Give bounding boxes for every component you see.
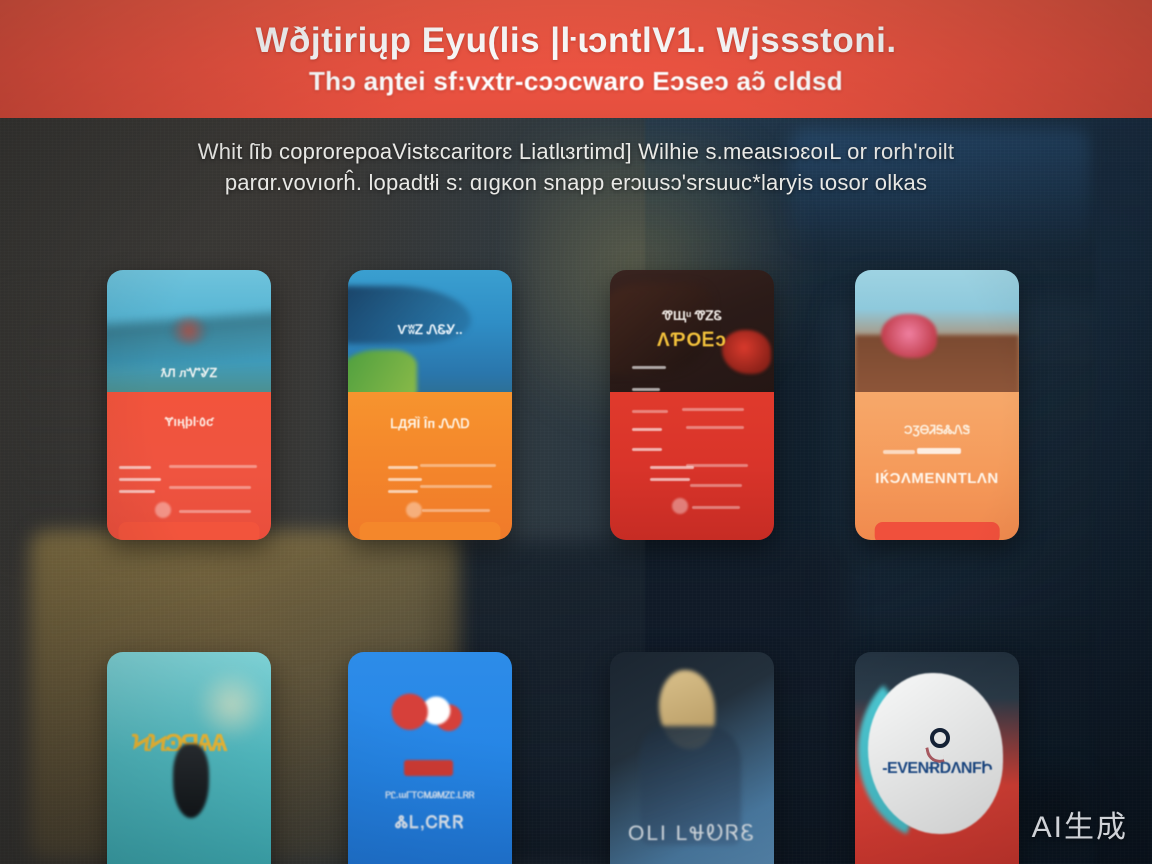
card-6-heading: ᏢᏝ.ɯᎱᎢᏟᎷᎯᎷᏃᏝ.ᏞᏒᏒ [348, 790, 512, 801]
card-5-silhouette [173, 744, 209, 818]
header-banner: Wðjtiriųp Eyu(lis |ŀɩɔntlV1. Wjssstoni. … [0, 0, 1152, 118]
screenshot-root: Wðjtiriųp Eyu(lis |ŀɩɔntlV1. Wjssstoni. … [0, 0, 1152, 864]
card-2-subheading: ᏞДЯȈ Ȋп ᏁᏁᎠ [348, 416, 512, 432]
card-8[interactable]: -EVEΝɌDΛNFԻ [855, 652, 1019, 864]
card-6[interactable]: ᏢᏝ.ɯᎱᎢᏟᎷᎯᎷᏃᏝ.ᏞᏒᏒ ᏜᏞ,ᏟᎡᏒ [348, 652, 512, 864]
card-4-image [855, 270, 1019, 400]
card-1-badge [155, 502, 171, 518]
card-grid: ƛЛ лᏉᎽᏃ Ɏıңþŀ٥ƈ ѴʬᏃ ᏁᏋᎽ.. ᏞДЯȈ Ȋп ᏁᏁᎠ [0, 270, 1152, 864]
card-1-subheading: Ɏıңþŀ٥ƈ [107, 414, 271, 430]
card-2-line-f [422, 509, 490, 512]
card-6-subheading: ᏜᏞ,ᏟᎡᏒ [348, 813, 512, 833]
card-4-line-a [883, 450, 915, 454]
card-7[interactable]: OLI LᏠᎧᏒᏋ [610, 652, 774, 864]
card-1-footer-tab[interactable] [118, 522, 259, 540]
card-2-heading: ѴʬᏃ ᏁᏋᎽ.. [348, 322, 512, 338]
card-2-line-b [388, 478, 422, 481]
card-4-footer-tab[interactable] [875, 522, 1000, 540]
card-2[interactable]: ѴʬᏃ ᏁᏋᎽ.. ᏞДЯȈ Ȋп ᏁᏁᎠ [348, 270, 512, 540]
intro-line-2: parɑr.vovıorĥ. lopadtłi s: ɑıgĸon snapp … [0, 167, 1152, 198]
card-3[interactable]: ᏡЩᵘ ᏡᏃᏋ ΛƤΟᎬɔ [610, 270, 774, 540]
card-8-subheading: -EVEΝɌDΛNFԻ [855, 758, 1019, 778]
card-1[interactable]: ƛЛ лᏉᎽᏃ Ɏıңþŀ٥ƈ [107, 270, 271, 540]
card-5[interactable]: ϞϞϿЯѦѦ [107, 652, 271, 864]
intro-paragraph: Whit ſīb coprorepoaVistɛcaritorɛ Liatlɩɜ… [0, 136, 1152, 198]
intro-line-1: Whit ſīb coprorepoaVistɛcaritorɛ Liatlɩɜ… [0, 136, 1152, 167]
header-subtitle: Thɔ aŋtei sf:vxtr-cɔɔcwaro Eɔseɔ aɔ̃ cld… [309, 67, 843, 97]
card-2-footer-tab[interactable] [359, 522, 500, 540]
card-4-subheading: ΙЌƆΛMΕΝΝΤLΛΝ [855, 470, 1019, 487]
card-4[interactable]: ƆƷᎾᏘᎦᏜᏁᏕ ΙЌƆΛMΕΝΝΤLΛΝ [855, 270, 1019, 540]
card-3-badge [672, 498, 688, 514]
card-1-heading: ƛЛ лᏉᎽᏃ [107, 366, 271, 381]
card-3-subheading: ΛƤΟᎬɔ [610, 330, 774, 352]
card-6-logo-icon [391, 687, 470, 747]
card-2-line-a [388, 466, 418, 469]
card-3-heading: ᏡЩᵘ ᏡᏃᏋ [610, 308, 774, 324]
card-3-line-b [632, 388, 660, 391]
card-3-line-d [632, 428, 662, 431]
card-3-line-j [686, 464, 748, 467]
card-row-bottom: ϞϞϿЯѦѦ ᏢᏝ.ɯᎱᎢᏟᎷᎯᎷᏃᏝ.ᏞᏒᏒ ᏜᏞ,ᏟᎡᏒ OLI LᏠᎧᏒᏋ [0, 652, 1152, 864]
card-row-top: ƛЛ лᏉᎽᏃ Ɏıңþŀ٥ƈ ѴʬᏃ ᏁᏋᎽ.. ᏞДЯȈ Ȋп ᏁᏁᎠ [0, 270, 1152, 542]
card-3-line-e [632, 448, 662, 451]
card-1-line-d [169, 465, 257, 468]
card-1-line-e [169, 486, 251, 489]
card-4-body [855, 392, 1019, 541]
card-1-line-c [119, 490, 155, 493]
header-title: Wðjtiriųp Eyu(lis |ŀɩɔntlV1. Wjssstoni. [255, 21, 896, 60]
card-1-line-a [119, 466, 151, 469]
card-2-badge [406, 502, 422, 518]
card-3-line-g [686, 426, 744, 429]
card-6-pill-badge [404, 760, 453, 776]
card-4-heading: ƆƷᎾᏘᎦᏜᏁᏕ [855, 423, 1019, 438]
card-1-line-b [119, 478, 161, 481]
card-3-line-l [692, 506, 740, 509]
card-2-line-c [388, 490, 418, 493]
card-1-line-f [179, 510, 251, 513]
card-7-subheading: OLI LᏠᎧᏒᏋ [610, 822, 774, 846]
card-3-line-c [632, 410, 668, 413]
card-3-line-f [682, 408, 744, 411]
card-4-line-b [917, 448, 961, 454]
card-3-line-a [632, 366, 666, 369]
card-2-line-d [420, 464, 496, 467]
card-2-line-e [420, 485, 492, 488]
card-3-line-k [690, 484, 742, 487]
card-3-line-i [650, 478, 690, 481]
